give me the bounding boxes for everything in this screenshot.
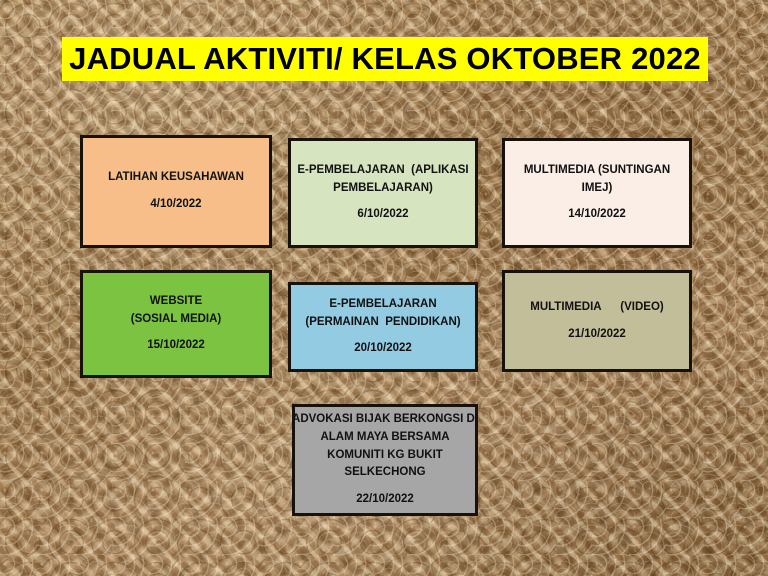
activity-date: 6/10/2022 (297, 206, 468, 224)
activity-title-line: E-PEMBELAJARAN (305, 296, 460, 314)
activity-title-line: E-PEMBELAJARAN (APLIKASI (297, 162, 468, 180)
activity-card-e-pembelajaran-aplikasi[interactable]: E-PEMBELAJARAN (APLIKASI PEMBELAJARAN) 6… (288, 138, 478, 248)
activity-card-body: E-PEMBELAJARAN (APLIKASI PEMBELAJARAN) 6… (290, 162, 475, 224)
activity-title-line: WEBSITE (131, 293, 222, 311)
activity-card-body: ADVOKASI BIJAK BERKONGSI DI ALAM MAYA BE… (285, 411, 485, 509)
page-title: JADUAL AKTIVITI/ KELAS OKTOBER 2022 (69, 41, 701, 77)
activity-date: 15/10/2022 (131, 337, 222, 355)
activity-card-multimedia-video[interactable]: MULTIMEDIA (VIDEO) 21/10/2022 (502, 270, 692, 372)
activity-date: 20/10/2022 (305, 340, 460, 358)
activity-title-line: SELKECHONG (292, 464, 478, 482)
activity-date: 21/10/2022 (530, 326, 664, 344)
activity-card-e-pembelajaran-permainan[interactable]: E-PEMBELAJARAN (PERMAINAN PENDIDIKAN) 20… (288, 282, 478, 372)
activity-date: 4/10/2022 (108, 196, 244, 214)
activity-title-line: KOMUNITI KG BUKIT (292, 447, 478, 465)
activity-card-latihan-keusahawan[interactable]: LATIHAN KEUSAHAWAN 4/10/2022 (80, 135, 272, 248)
activity-date: 22/10/2022 (292, 491, 478, 509)
page-title-banner: JADUAL AKTIVITI/ KELAS OKTOBER 2022 (62, 37, 708, 81)
activity-title-line: IMEJ) (524, 180, 670, 198)
activity-title-line: (SOSIAL MEDIA) (131, 311, 222, 329)
connector-line (385, 262, 387, 284)
activity-title-line: MULTIMEDIA (SUNTINGAN (524, 162, 670, 180)
activity-title-line: LATIHAN KEUSAHAWAN (108, 169, 244, 187)
activity-title-line: PEMBELAJARAN) (297, 180, 468, 198)
activity-card-body: LATIHAN KEUSAHAWAN 4/10/2022 (101, 169, 251, 214)
activity-card-body: MULTIMEDIA (VIDEO) 21/10/2022 (523, 299, 671, 344)
activity-card-body: MULTIMEDIA (SUNTINGAN IMEJ) 14/10/2022 (517, 162, 677, 224)
activity-title-line: ADVOKASI BIJAK BERKONGSI DI (292, 411, 478, 429)
activity-title-line: ALAM MAYA BERSAMA (292, 429, 478, 447)
activity-title-line: MULTIMEDIA (VIDEO) (530, 299, 664, 317)
activity-card-multimedia-suntingan-imej[interactable]: MULTIMEDIA (SUNTINGAN IMEJ) 14/10/2022 (502, 138, 692, 248)
activity-card-body: WEBSITE (SOSIAL MEDIA) 15/10/2022 (124, 293, 229, 355)
activity-card-body: E-PEMBELAJARAN (PERMAINAN PENDIDIKAN) 20… (298, 296, 467, 358)
slide-canvas: JADUAL AKTIVITI/ KELAS OKTOBER 2022 LATI… (0, 0, 768, 576)
activity-card-advokasi-bijak-berkongsi[interactable]: ADVOKASI BIJAK BERKONGSI DI ALAM MAYA BE… (292, 404, 478, 516)
activity-date: 14/10/2022 (524, 206, 670, 224)
activity-title-line: (PERMAINAN PENDIDIKAN) (305, 314, 460, 332)
activity-card-website-sosial-media[interactable]: WEBSITE (SOSIAL MEDIA) 15/10/2022 (80, 270, 272, 378)
